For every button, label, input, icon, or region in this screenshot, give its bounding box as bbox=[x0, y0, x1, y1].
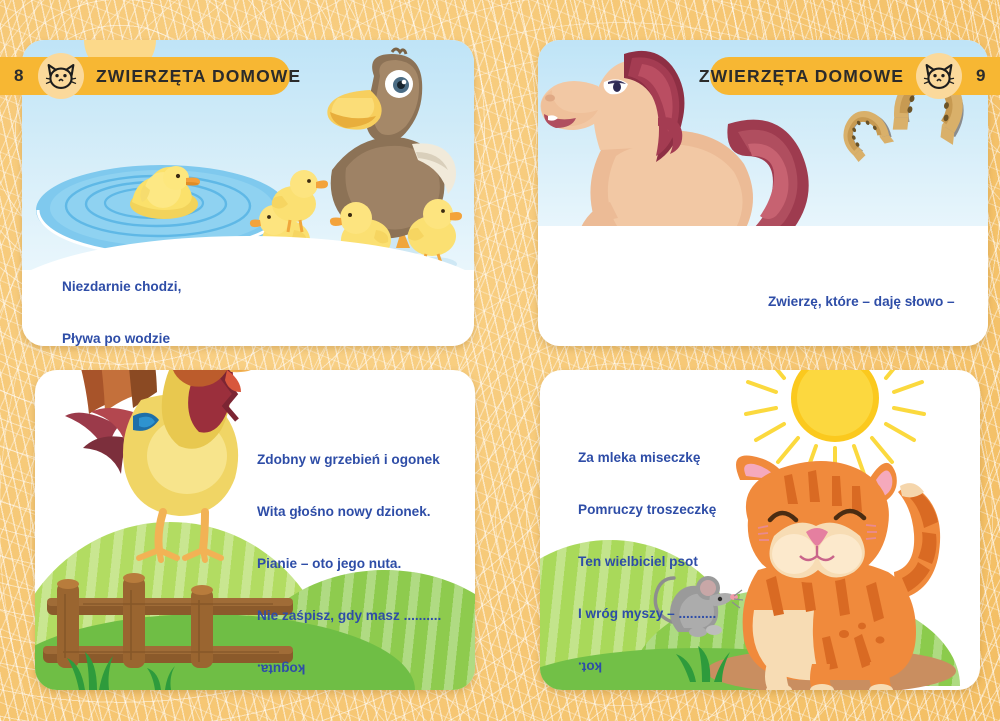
panel-cat: Za mleka miseczkę Pomruczy troszeczkę Te… bbox=[540, 370, 980, 690]
riddle-line: Za mleka miseczkę bbox=[578, 449, 716, 466]
riddle-answer: koguta. bbox=[257, 660, 305, 677]
riddle-text-horse: Zwierzę, które – daję słowo – Każdą nogę… bbox=[768, 258, 955, 346]
riddle-line: Pływa po wodzie bbox=[62, 330, 181, 346]
riddle-line: Niezdarnie chodzi, bbox=[62, 278, 181, 295]
riddle-line: Każdą nogę ma z podkową. bbox=[768, 345, 955, 346]
riddle-line: Pianie – oto jego nuta. bbox=[257, 555, 441, 572]
book-spread: Niezdarnie chodzi, Pływa po wodzie I gło… bbox=[0, 0, 1000, 721]
section-title-right: ZWIERZĘTA DOMOWE bbox=[699, 66, 904, 87]
header-left-page: 8 ZWIERZĘTA DOMOWE bbox=[0, 57, 290, 95]
section-title-left: ZWIERZĘTA DOMOWE bbox=[96, 66, 301, 87]
panel-rooster: Zdobny w grzebień i ogonek Wita głośno n… bbox=[35, 370, 475, 690]
riddle-line: I wróg myszy – .......... bbox=[578, 605, 716, 622]
page-number-left: 8 bbox=[14, 66, 24, 86]
header-right-page: ZWIERZĘTA DOMOWE 9 bbox=[710, 57, 1000, 95]
riddle-line: Zdobny w grzebień i ogonek bbox=[257, 451, 441, 468]
cat-face-icon bbox=[38, 53, 84, 99]
riddle-line: Wita głośno nowy dzionek. bbox=[257, 503, 441, 520]
riddle-text-cat: Za mleka miseczkę Pomruczy troszeczkę Te… bbox=[578, 414, 716, 690]
rubber-duck-icon bbox=[120, 152, 208, 222]
riddle-text-duck: Niezdarnie chodzi, Pływa po wodzie I gło… bbox=[62, 243, 181, 346]
riddle-answer: kot. bbox=[578, 658, 602, 675]
riddle-line: Zwierzę, które – daję słowo – bbox=[768, 293, 955, 310]
riddle-line: Nie zaśpisz, gdy masz .......... bbox=[257, 607, 441, 624]
riddle-text-rooster: Zdobny w grzebień i ogonek Wita głośno n… bbox=[257, 416, 441, 690]
page-number-right: 9 bbox=[976, 66, 986, 86]
riddle-line: Pomruczy troszeczkę bbox=[578, 501, 716, 518]
cat-face-icon bbox=[916, 53, 962, 99]
cat-icon bbox=[684, 450, 980, 690]
riddle-line: Ten wielbiciel psot bbox=[578, 553, 716, 570]
grass-icon bbox=[65, 646, 185, 690]
